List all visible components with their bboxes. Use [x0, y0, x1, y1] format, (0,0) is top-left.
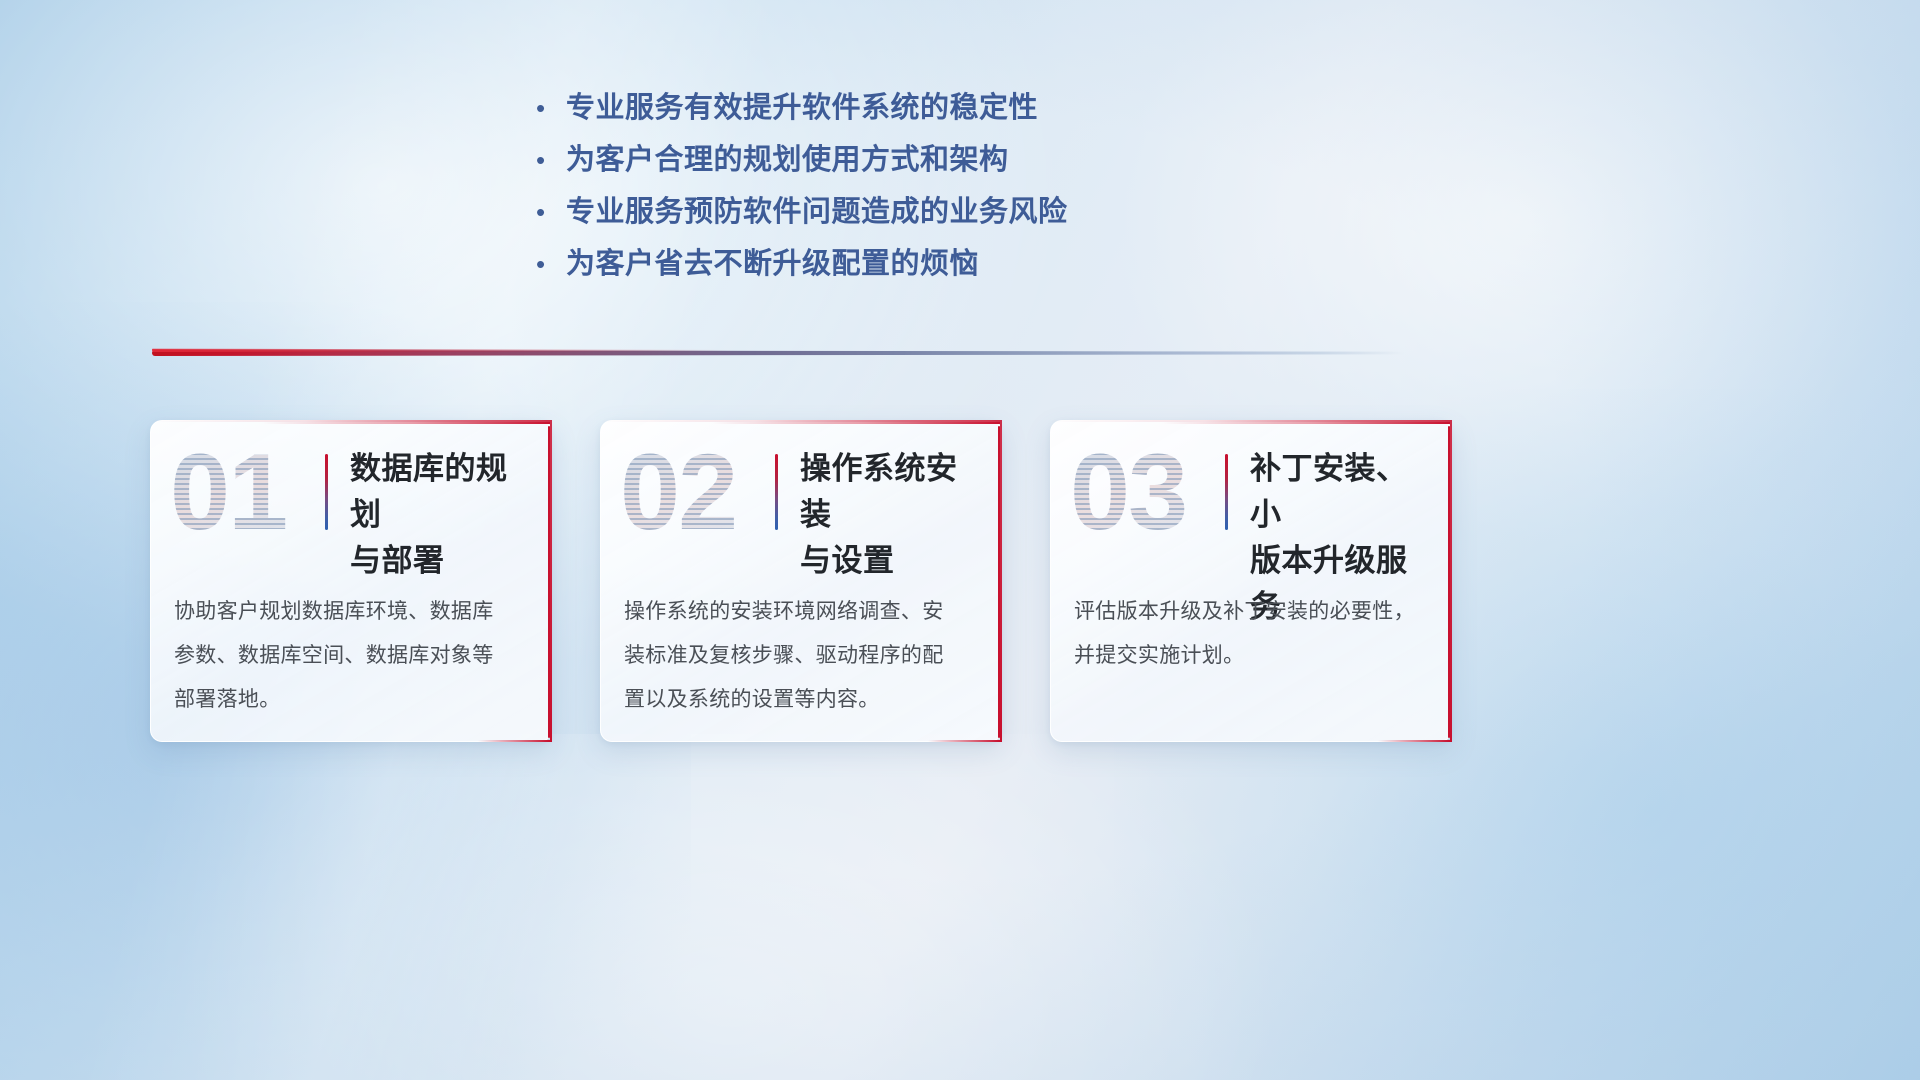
- bullet-text: 专业服务有效提升软件系统的稳定性: [566, 88, 1038, 128]
- card-description: 评估版本升级及补丁安装的必要性， 并提交实施计划。: [1074, 590, 1430, 678]
- service-card-group: 01 数据库的规划 与部署 协助客户规划数据库环境、数据库 参数、数据库空间、数…: [150, 420, 1452, 742]
- card-number-watermark: 01: [170, 438, 286, 546]
- card-title-divider-bar: [1225, 454, 1228, 530]
- card-title: 操作系统安装 与设置: [800, 446, 984, 584]
- service-card-02[interactable]: 02 操作系统安装 与设置 操作系统的安装环境网络调查、安 装标准及复核步骤、驱…: [600, 420, 1002, 742]
- list-item: • 为客户合理的规划使用方式和架构: [536, 140, 1236, 192]
- card-title: 数据库的规划 与部署: [350, 446, 534, 584]
- card-title-divider-bar: [775, 454, 778, 530]
- bullet-dot-icon: •: [536, 140, 566, 180]
- list-item: • 专业服务有效提升软件系统的稳定性: [536, 88, 1236, 140]
- bullet-dot-icon: •: [536, 244, 566, 284]
- card-description: 操作系统的安装环境网络调查、安 装标准及复核步骤、驱动程序的配 置以及系统的设置…: [624, 590, 980, 722]
- card-title-divider-bar: [325, 454, 328, 530]
- service-card-01[interactable]: 01 数据库的规划 与部署 协助客户规划数据库环境、数据库 参数、数据库空间、数…: [150, 420, 552, 742]
- card-header: 操作系统安装 与设置: [775, 446, 984, 584]
- benefits-bullet-list: • 专业服务有效提升软件系统的稳定性 • 为客户合理的规划使用方式和架构 • 专…: [536, 88, 1236, 296]
- bullet-text: 专业服务预防软件问题造成的业务风险: [566, 192, 1068, 232]
- section-divider: [152, 346, 1404, 360]
- card-number-watermark: 02: [620, 438, 736, 546]
- bullet-text: 为客户省去不断升级配置的烦恼: [566, 244, 979, 284]
- list-item: • 专业服务预防软件问题造成的业务风险: [536, 192, 1236, 244]
- card-description: 协助客户规划数据库环境、数据库 参数、数据库空间、数据库对象等 部署落地。: [174, 590, 530, 722]
- card-header: 数据库的规划 与部署: [325, 446, 534, 584]
- list-item: • 为客户省去不断升级配置的烦恼: [536, 244, 1236, 296]
- service-card-03[interactable]: 03 补丁安装、小 版本升级服务 评估版本升级及补丁安装的必要性， 并提交实施计…: [1050, 420, 1452, 742]
- card-number-watermark: 03: [1070, 438, 1186, 546]
- bullet-text: 为客户合理的规划使用方式和架构: [566, 140, 1009, 180]
- bullet-dot-icon: •: [536, 192, 566, 232]
- bullet-dot-icon: •: [536, 88, 566, 128]
